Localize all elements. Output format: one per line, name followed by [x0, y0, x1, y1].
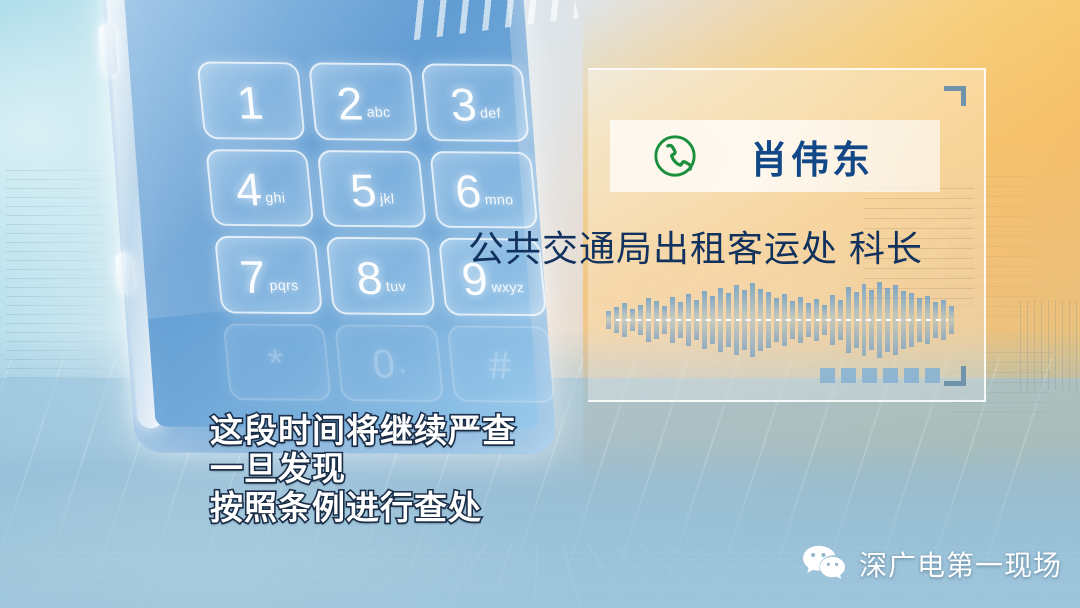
keypad-key-2: 2 abc	[308, 62, 418, 140]
keypad-digit: 5	[348, 169, 378, 211]
indicator-square	[904, 368, 919, 383]
keypad-digit: 8	[354, 256, 384, 298]
keypad-digit: 3	[448, 83, 478, 125]
phone-handset-icon	[652, 133, 698, 179]
keypad-key-4: 4 ghi	[205, 149, 315, 227]
corner-bracket-bottom-right-icon	[944, 366, 966, 386]
indicator-square	[820, 368, 835, 383]
keypad-key-7: 7 pqrs	[214, 236, 324, 314]
keypad-letters: tuv	[385, 278, 407, 299]
keypad-letters: +	[398, 362, 409, 383]
caller-role: 公共交通局出租客运处 科长	[468, 220, 988, 272]
keypad-letters: wxyz	[491, 279, 526, 300]
keypad-digit: *	[266, 345, 285, 382]
keypad-digit: 0	[371, 346, 397, 383]
keypad-key-3: 3 def	[420, 63, 530, 141]
keypad-letters: abc	[366, 104, 392, 125]
keypad-digit: 7	[238, 255, 268, 297]
indicator-square	[883, 368, 898, 383]
indicator-square	[841, 368, 856, 383]
audio-waveform	[606, 278, 954, 362]
caller-info-panel: 肖伟东 公共交通局出租客运处 科长	[588, 68, 986, 402]
keypad-key-0: 0 +	[334, 324, 444, 402]
caller-name: 肖伟东	[750, 129, 873, 184]
waveform-center-line	[616, 319, 948, 321]
keypad-key-1: 1	[197, 61, 307, 139]
keypad-key-8: 8 tuv	[326, 237, 436, 315]
caller-name-banner: 肖伟东	[610, 120, 940, 192]
subtitle-captions: 这段时间将继续严查 一旦发现 按照条例进行查处	[210, 412, 516, 527]
keypad-digit: 4	[234, 168, 264, 210]
watermark-label: 深广电第一现场	[859, 544, 1062, 584]
caption-line: 按照条例进行查处	[210, 489, 516, 527]
wechat-icon	[801, 544, 847, 584]
waveform-bar	[606, 311, 611, 329]
caption-line: 这段时间将继续严查	[210, 412, 516, 450]
channel-watermark: 深广电第一现场	[801, 544, 1062, 584]
keypad-key-star: *	[223, 323, 333, 401]
keypad-letters: jkl	[379, 191, 396, 212]
broadcast-overlay-screen: 1 2 abc 3 def 4 ghi	[0, 0, 1080, 608]
keypad-digit: 1	[235, 81, 265, 123]
waveform-indicator-squares	[820, 368, 940, 383]
keypad-key-5: 5 jkl	[317, 150, 427, 228]
keypad-letters: ghi	[265, 190, 287, 211]
keypad-key-6: 6 mno	[429, 151, 539, 229]
waveform-bar	[949, 306, 954, 334]
corner-bracket-top-right-icon	[944, 86, 966, 106]
keypad-letters: def	[479, 105, 502, 126]
keypad-digit: #	[487, 347, 513, 384]
keypad-key-hash: #	[446, 325, 556, 403]
decorative-text-left	[6, 170, 126, 380]
decorative-bars-right	[1020, 300, 1080, 390]
keypad-letters: pqrs	[269, 277, 300, 298]
caption-line: 一旦发现	[210, 450, 516, 488]
keypad-digit: 2	[335, 82, 365, 124]
keypad-letters: mno	[484, 192, 515, 213]
indicator-square	[925, 368, 940, 383]
indicator-square	[862, 368, 877, 383]
phone-volume-button-down	[115, 253, 134, 293]
keypad-digit: 6	[453, 170, 483, 212]
